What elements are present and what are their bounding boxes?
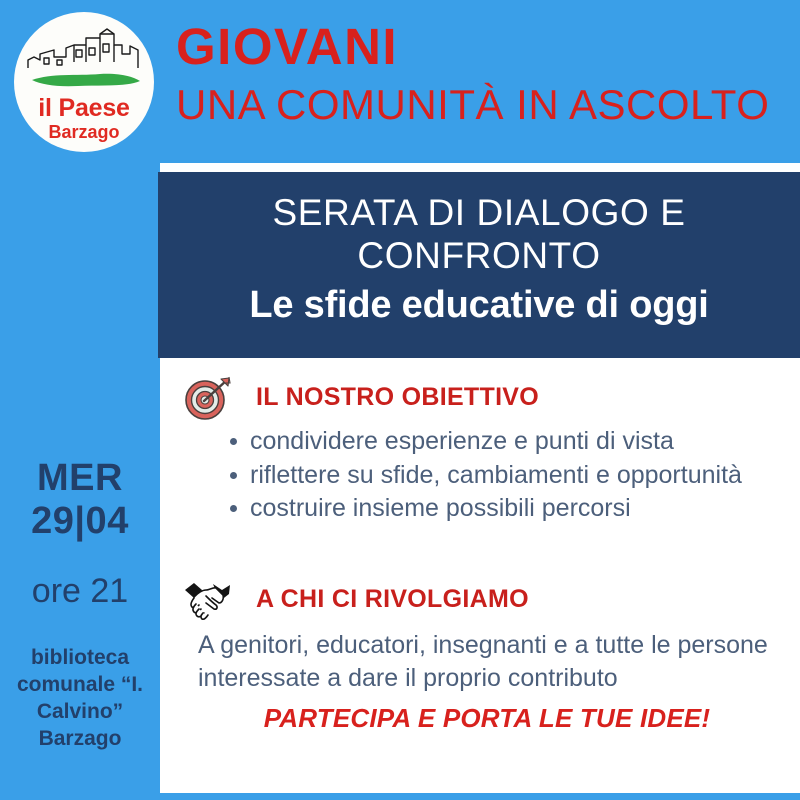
- village-skyline-icon: [14, 24, 154, 100]
- event-details-sidebar: MER 29|04 ore 21 biblioteca comunale “I.…: [0, 160, 160, 800]
- target-dartboard-icon: [182, 375, 234, 421]
- title-banner: SERATA DI DIALOGO E CONFRONTO Le sfide e…: [158, 172, 800, 358]
- event-poster: il Paese Barzago GIOVANI UNA COMUNITÀ IN…: [0, 0, 800, 800]
- banner-highlight: Le sfide educative di oggi: [158, 285, 800, 327]
- poster-subtitle: UNA COMUNITÀ IN ASCOLTO: [176, 84, 769, 126]
- event-venue: biblioteca comunale “I. Calvino” Barzago: [0, 645, 160, 753]
- section-audience-header: A CHI CI RIVOLGIAMO: [182, 577, 792, 623]
- section-objective-title: IL NOSTRO OBIETTIVO: [256, 383, 539, 412]
- logo-subtitle: Barzago: [14, 123, 154, 141]
- section-audience: A CHI CI RIVOLGIAMO A genitori, educator…: [182, 577, 792, 734]
- objective-bullet-list: condividere esperienze e punti di vista …: [182, 425, 792, 525]
- event-day: MER: [0, 457, 160, 500]
- audience-paragraph: A genitori, educatori, insegnanti e a tu…: [182, 629, 792, 695]
- event-date: 29|04: [0, 500, 160, 543]
- section-objective: IL NOSTRO OBIETTIVO condividere esperien…: [182, 375, 792, 526]
- list-item: costruire insieme possibili percorsi: [228, 492, 792, 525]
- list-item: condividere esperienze e punti di vista: [228, 425, 792, 458]
- list-item: riflettere su sfide, cambiamenti e oppor…: [228, 459, 792, 492]
- poster-title: GIOVANI: [176, 21, 398, 72]
- bottom-accent-strip: [0, 793, 800, 800]
- section-objective-header: IL NOSTRO OBIETTIVO: [182, 375, 792, 421]
- handshake-icon: [182, 577, 234, 623]
- logo-badge: il Paese Barzago: [14, 12, 154, 152]
- poster-header: il Paese Barzago GIOVANI UNA COMUNITÀ IN…: [0, 0, 800, 160]
- event-time: ore 21: [0, 574, 160, 608]
- banner-line-2: CONFRONTO: [158, 235, 800, 278]
- section-audience-title: A CHI CI RIVOLGIAMO: [256, 585, 529, 614]
- event-date-block: MER 29|04: [0, 457, 160, 542]
- banner-line-1: SERATA DI DIALOGO E: [158, 192, 800, 235]
- logo-title: il Paese: [14, 96, 154, 121]
- call-to-action: PARTECIPA E PORTA LE TUE IDEE!: [182, 703, 792, 734]
